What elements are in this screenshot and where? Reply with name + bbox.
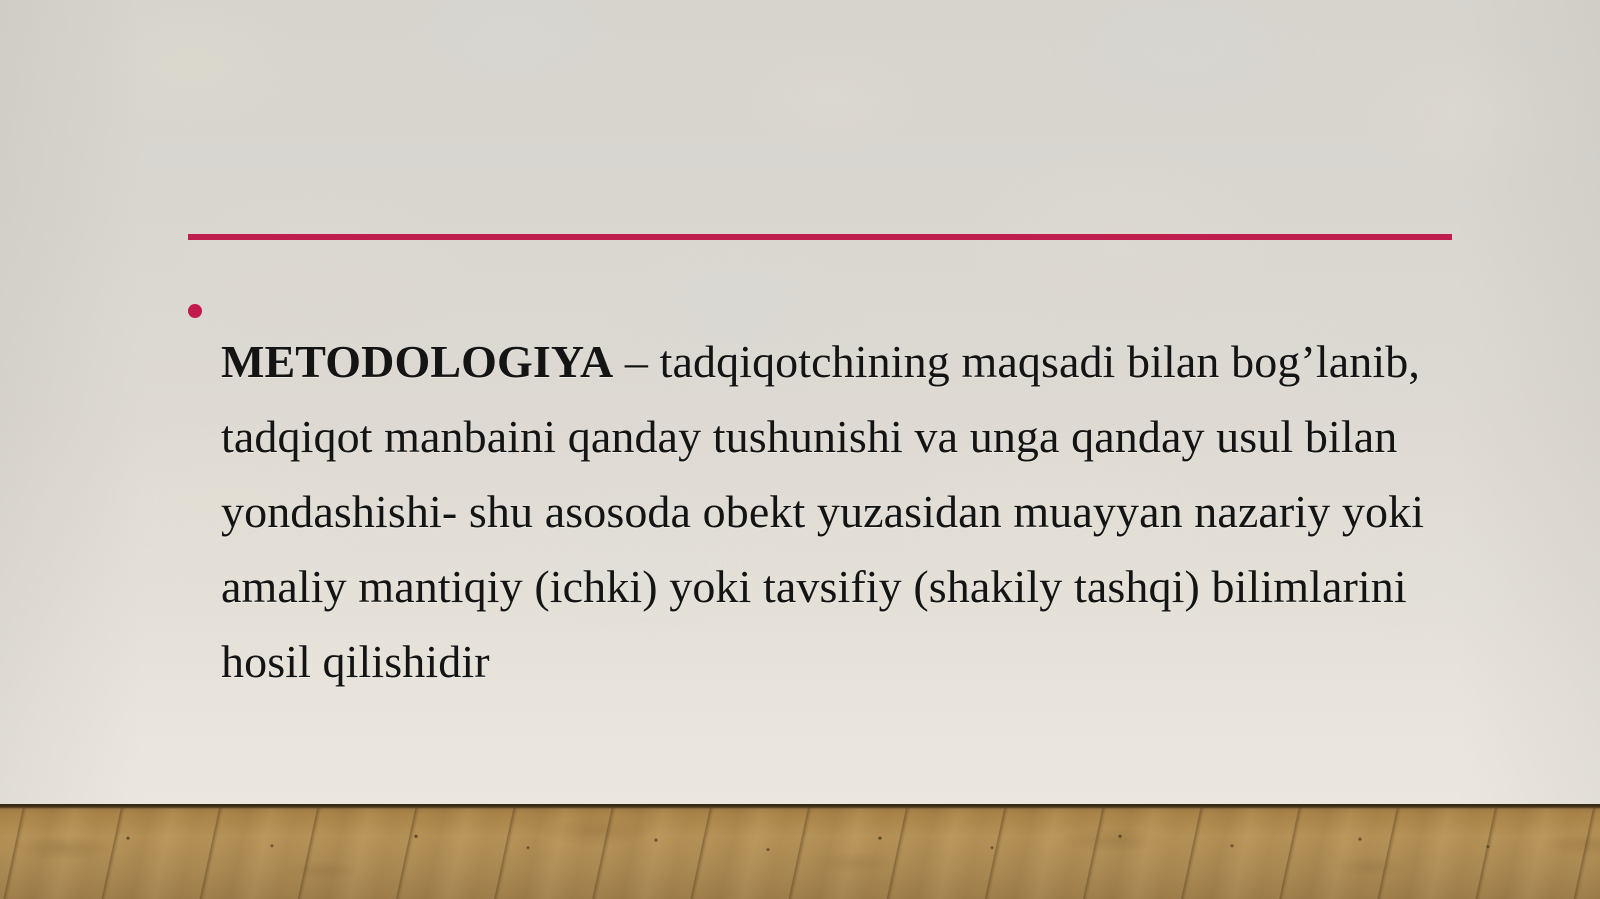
presentation-slide: METODOLOGIYA – tadqiqotchining maqsadi b… (0, 0, 1600, 899)
body-text: tadqiqotchining maqsadi bilan bog’lanib,… (221, 336, 1424, 687)
bullet-dot-icon (188, 304, 202, 318)
dash-separator: – (613, 336, 659, 387)
floor-wall-baseline (0, 804, 1600, 809)
accent-divider-line (188, 234, 1452, 240)
bullet-paragraph: METODOLOGIYA – tadqiqotchining maqsadi b… (221, 324, 1456, 699)
slide-content-block: METODOLOGIYA – tadqiqotchining maqsadi b… (188, 278, 1456, 745)
slide-background-floor (0, 804, 1600, 899)
bullet-list-item: METODOLOGIYA – tadqiqotchining maqsadi b… (188, 278, 1456, 745)
floor-nail-heads (0, 804, 1600, 899)
lead-term: METODOLOGIYA (221, 336, 613, 387)
